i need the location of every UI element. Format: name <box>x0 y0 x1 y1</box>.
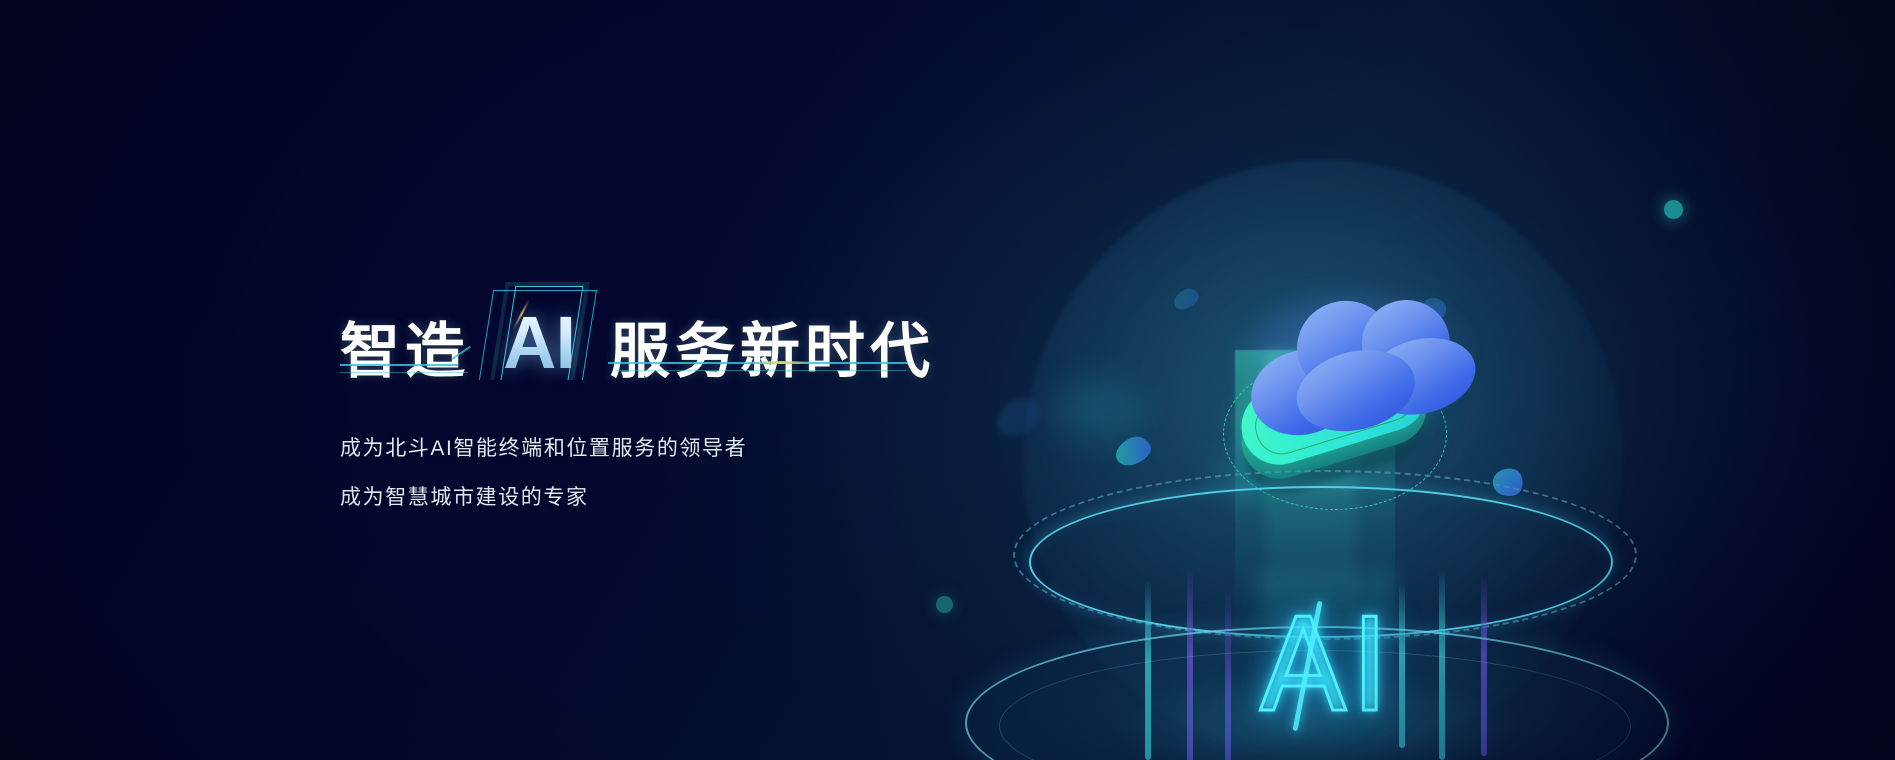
headline-rule-left-upper <box>340 364 458 366</box>
headline-ai-text: AI <box>503 306 575 382</box>
hero-illustration: AI <box>955 150 1695 750</box>
glow-dot-1-icon <box>1664 200 1683 219</box>
headline-right-text: 服务新时代 <box>610 322 935 382</box>
subtitle-line-2: 成为智慧城市建设的专家 <box>340 473 960 522</box>
headline: 智造 AI 服务新时代 <box>340 286 960 382</box>
subtitle-line-1: 成为北斗AI智能终端和位置服务的领导者 <box>340 424 960 473</box>
dome-blob-1 <box>1055 380 1145 440</box>
neon-ai-logo: AI <box>1231 592 1421 742</box>
headline-rule-gold-accent <box>748 361 814 364</box>
neon-ai-text: AI <box>1259 603 1392 731</box>
headline-ai-lockup: AI <box>478 284 600 382</box>
subtitle-block: 成为北斗AI智能终端和位置服务的领导者 成为智慧城市建设的专家 <box>340 424 960 522</box>
glow-dot-2-icon <box>936 596 953 613</box>
hero-copy: 智造 AI 服务新时代 成为北斗AI智能终端和位置服务的领导者 成为智慧城市建设… <box>340 286 960 522</box>
headline-rule-left-lower <box>340 372 468 373</box>
headline-rule-right-lower <box>616 370 906 371</box>
hero-banner: 智造 AI 服务新时代 成为北斗AI智能终端和位置服务的领导者 成为智慧城市建设… <box>0 0 1895 760</box>
